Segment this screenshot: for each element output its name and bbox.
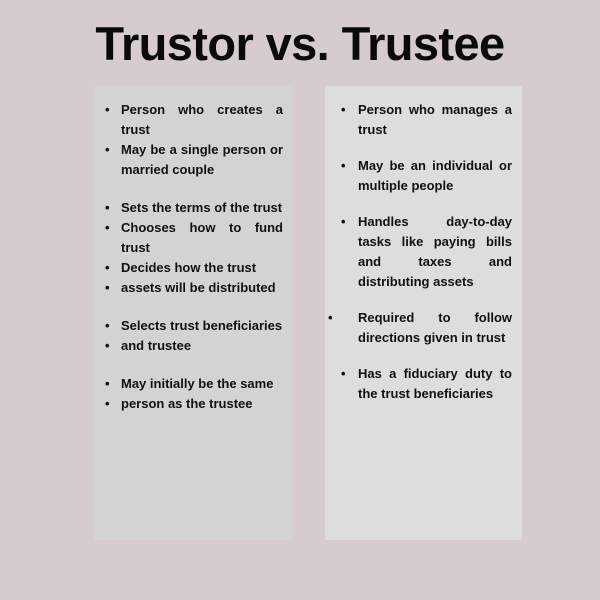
page-title: Trustor vs. Trustee (0, 16, 600, 72)
list-item: assets will be distributed (103, 278, 283, 298)
list-item: Person who manages a trust (338, 100, 512, 140)
list-item: Selects trust beneficiaries (103, 316, 283, 336)
trustee-card: Person who manages a trust May be an ind… (325, 86, 522, 540)
list-item: Has a fiduciary duty to the trust benefi… (338, 364, 512, 404)
group-spacer (338, 140, 512, 156)
group-spacer (338, 196, 512, 212)
group-spacer (103, 180, 283, 198)
group-spacer (338, 348, 512, 364)
infographic-root: Trustor vs. Trustee Person who creates a… (0, 0, 600, 600)
list-item: Person who creates a trust (103, 100, 283, 140)
group-spacer (103, 356, 283, 374)
list-item: Handles day-to-day tasks like paying bil… (338, 212, 512, 292)
trustor-bullet-list: Person who creates a trust May be a sing… (103, 100, 283, 414)
list-item: and trustee (103, 336, 283, 356)
trustee-bullet-list: Person who manages a trust May be an ind… (338, 100, 512, 404)
group-spacer (338, 292, 512, 308)
trustor-card: Person who creates a trust May be a sing… (94, 86, 292, 540)
list-item: May be an individual or multiple people (338, 156, 512, 196)
list-item: May initially be the same (103, 374, 283, 394)
list-item: Sets the terms of the trust (103, 198, 283, 218)
list-item: person as the trustee (103, 394, 283, 414)
list-item: May be a single person or married couple (103, 140, 283, 180)
list-item: Decides how the trust (103, 258, 283, 278)
group-spacer (103, 298, 283, 316)
list-item: Required to follow directions given in t… (325, 308, 512, 348)
list-item: Chooses how to fund trust (103, 218, 283, 258)
